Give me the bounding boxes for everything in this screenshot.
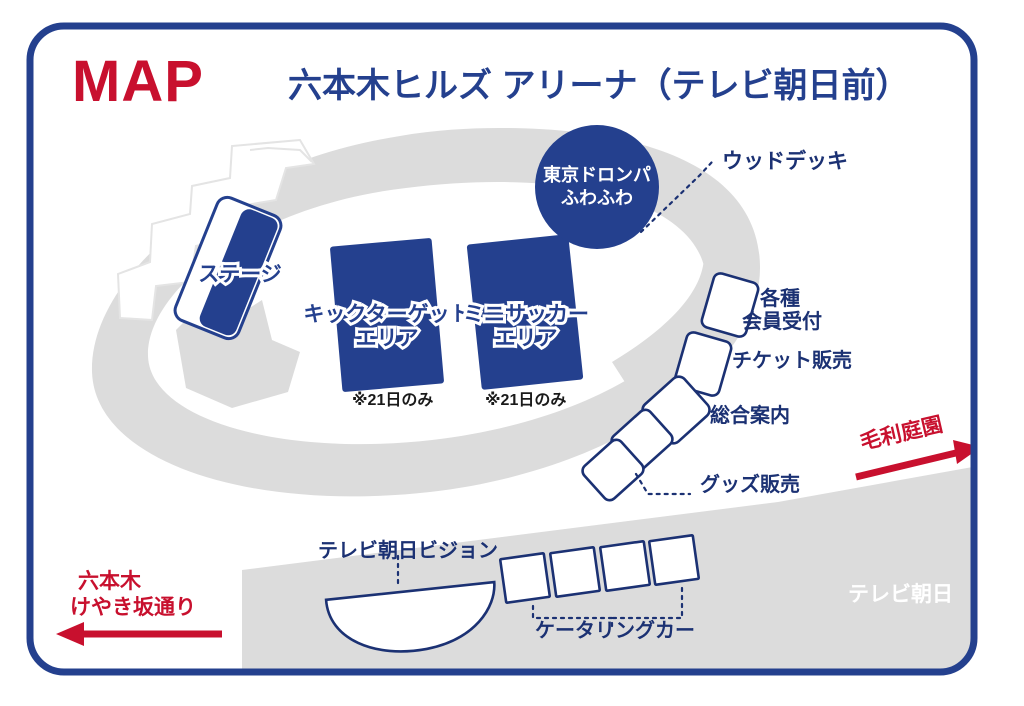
- building-tv-asahi-label: テレビ朝日: [848, 583, 953, 608]
- map-root: MAP 六本木ヒルズ アリーナ（テレビ朝日前） ステージ ステージ キックターゲ…: [0, 0, 1024, 706]
- area-mini-soccer-note: ※21日のみ: [485, 392, 566, 411]
- area-stage-label: ステージ ステージ: [150, 258, 330, 288]
- area-kick-target-note: ※21日のみ: [352, 392, 433, 411]
- callout-goods-sales-label: グッズ販売: [700, 474, 800, 498]
- catering-car-2[interactable]: [550, 547, 600, 597]
- callout-information-label: 総合案内: [710, 405, 790, 429]
- callout-ticket-sales-label: チケット販売: [732, 350, 852, 374]
- catering-car-1[interactable]: [500, 553, 550, 603]
- area-tokyo-dronpa-label-line1: 東京ドロンパ: [533, 165, 661, 186]
- catering-car-3[interactable]: [600, 541, 650, 591]
- catering-car-4[interactable]: [649, 535, 699, 585]
- page-title: 六本木ヒルズ アリーナ（テレビ朝日前）: [288, 58, 909, 107]
- area-tokyo-dronpa-shape[interactable]: [535, 125, 659, 249]
- map-badge-label: MAP: [72, 48, 204, 115]
- callout-catering-car-label: ケータリングカー: [535, 620, 695, 644]
- callout-tv-asahi-vision-label: テレビ朝日ビジョン: [318, 540, 498, 564]
- callout-wood-deck-label: ウッドデッキ: [722, 150, 848, 175]
- arrow-keyakizaka-label-line1: 六本木: [78, 570, 141, 595]
- callout-member-reception-line2: 会員受付: [742, 311, 822, 335]
- arrow-keyakizaka-label-line2: けやき坂通り: [70, 596, 196, 621]
- area-tokyo-dronpa-label-line2: ふわふわ: [533, 188, 661, 209]
- callout-member-reception-line1: 各種: [760, 288, 800, 312]
- area-mini-soccer-label-line2: エリア エリア: [432, 322, 620, 350]
